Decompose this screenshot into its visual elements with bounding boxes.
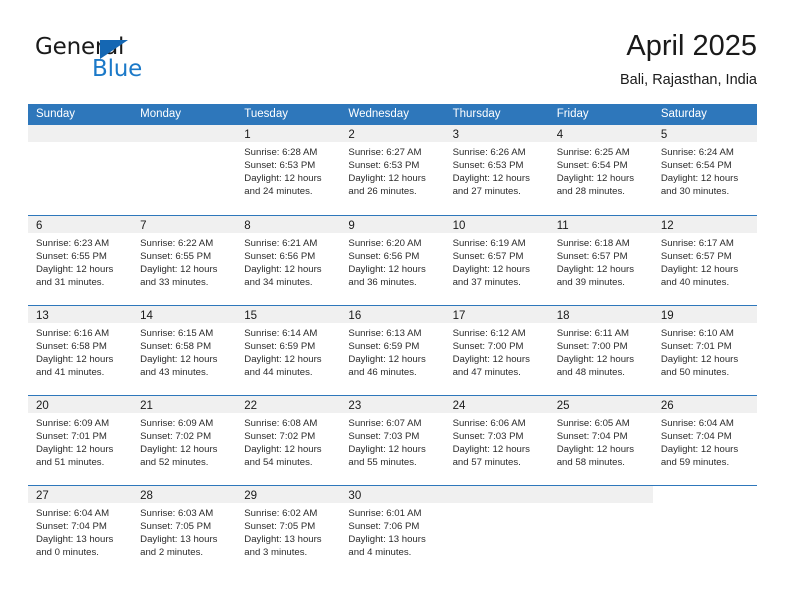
- day-info-line: Daylight: 12 hours: [348, 172, 440, 185]
- day-info-line: and 33 minutes.: [140, 276, 232, 289]
- calendar-day-cell[interactable]: 23Sunrise: 6:07 AMSunset: 7:03 PMDayligh…: [340, 396, 444, 485]
- day-info-line: Sunrise: 6:12 AM: [453, 327, 545, 340]
- day-sun-info: Sunrise: 6:01 AMSunset: 7:06 PMDaylight:…: [340, 503, 444, 559]
- day-info-line: Sunset: 7:05 PM: [140, 520, 232, 533]
- day-info-line: and 31 minutes.: [36, 276, 128, 289]
- day-number: 8: [244, 220, 250, 232]
- calendar-day-cell-empty: [28, 125, 132, 215]
- day-info-line: and 59 minutes.: [661, 456, 753, 469]
- day-info-line: Sunset: 6:59 PM: [348, 340, 440, 353]
- day-info-line: and 27 minutes.: [453, 185, 545, 198]
- day-number: 5: [661, 129, 667, 141]
- day-info-line: Sunrise: 6:15 AM: [140, 327, 232, 340]
- day-sun-info: Sunrise: 6:27 AMSunset: 6:53 PMDaylight:…: [340, 142, 444, 198]
- day-number-band: 22: [236, 396, 340, 413]
- calendar-day-cell[interactable]: 4Sunrise: 6:25 AMSunset: 6:54 PMDaylight…: [549, 125, 653, 215]
- calendar-day-cell[interactable]: 24Sunrise: 6:06 AMSunset: 7:03 PMDayligh…: [445, 396, 549, 485]
- day-info-line: Sunset: 7:00 PM: [557, 340, 649, 353]
- day-info-line: Sunrise: 6:20 AM: [348, 237, 440, 250]
- day-info-line: Sunset: 6:58 PM: [140, 340, 232, 353]
- day-info-line: Daylight: 12 hours: [557, 172, 649, 185]
- day-info-line: and 34 minutes.: [244, 276, 336, 289]
- day-sun-info: Sunrise: 6:16 AMSunset: 6:58 PMDaylight:…: [28, 323, 132, 379]
- day-info-line: Sunset: 7:04 PM: [661, 430, 753, 443]
- day-number-band: 24: [445, 396, 549, 413]
- day-info-line: Daylight: 12 hours: [244, 172, 336, 185]
- calendar-week-row: 20Sunrise: 6:09 AMSunset: 7:01 PMDayligh…: [28, 395, 757, 485]
- day-number-band: 23: [340, 396, 444, 413]
- day-sun-info: Sunrise: 6:13 AMSunset: 6:59 PMDaylight:…: [340, 323, 444, 379]
- calendar-day-cell[interactable]: 29Sunrise: 6:02 AMSunset: 7:05 PMDayligh…: [236, 486, 340, 575]
- weekday-header-sunday: Sunday: [28, 104, 132, 125]
- weekday-header-friday: Friday: [549, 104, 653, 125]
- calendar-day-cell[interactable]: 2Sunrise: 6:27 AMSunset: 6:53 PMDaylight…: [340, 125, 444, 215]
- day-info-line: and 36 minutes.: [348, 276, 440, 289]
- calendar-day-cell[interactable]: 18Sunrise: 6:11 AMSunset: 7:00 PMDayligh…: [549, 306, 653, 395]
- calendar-day-cell[interactable]: 27Sunrise: 6:04 AMSunset: 7:04 PMDayligh…: [28, 486, 132, 575]
- day-info-line: Daylight: 12 hours: [244, 353, 336, 366]
- calendar-day-cell[interactable]: 11Sunrise: 6:18 AMSunset: 6:57 PMDayligh…: [549, 216, 653, 305]
- day-number-band: 30: [340, 486, 444, 503]
- day-info-line: and 47 minutes.: [453, 366, 545, 379]
- day-info-line: Sunset: 6:57 PM: [557, 250, 649, 263]
- day-sun-info: Sunrise: 6:23 AMSunset: 6:55 PMDaylight:…: [28, 233, 132, 289]
- day-number-band: 17: [445, 306, 549, 323]
- day-sun-info: Sunrise: 6:03 AMSunset: 7:05 PMDaylight:…: [132, 503, 236, 559]
- day-number: 1: [244, 129, 250, 141]
- day-number: 20: [36, 400, 49, 412]
- day-info-line: Sunset: 6:57 PM: [661, 250, 753, 263]
- day-number: 16: [348, 310, 361, 322]
- day-info-line: Sunset: 7:02 PM: [140, 430, 232, 443]
- day-info-line: Sunset: 7:03 PM: [348, 430, 440, 443]
- day-info-line: Sunset: 7:06 PM: [348, 520, 440, 533]
- day-info-line: Daylight: 12 hours: [557, 353, 649, 366]
- calendar-day-cell[interactable]: 13Sunrise: 6:16 AMSunset: 6:58 PMDayligh…: [28, 306, 132, 395]
- day-number: 12: [661, 220, 674, 232]
- day-info-line: Sunrise: 6:26 AM: [453, 146, 545, 159]
- day-info-line: Sunrise: 6:24 AM: [661, 146, 753, 159]
- day-number-band: 27: [28, 486, 132, 503]
- day-info-line: Daylight: 12 hours: [453, 443, 545, 456]
- day-info-line: Sunrise: 6:10 AM: [661, 327, 753, 340]
- day-info-line: and 41 minutes.: [36, 366, 128, 379]
- day-number-band: 12: [653, 216, 757, 233]
- day-info-line: Daylight: 12 hours: [661, 263, 753, 276]
- day-sun-info: Sunrise: 6:10 AMSunset: 7:01 PMDaylight:…: [653, 323, 757, 379]
- day-info-line: Sunrise: 6:02 AM: [244, 507, 336, 520]
- day-info-line: Sunrise: 6:06 AM: [453, 417, 545, 430]
- day-info-line: Sunrise: 6:04 AM: [661, 417, 753, 430]
- day-number: 14: [140, 310, 153, 322]
- day-info-line: Daylight: 12 hours: [453, 353, 545, 366]
- day-number-band: 3: [445, 125, 549, 142]
- day-info-line: and 58 minutes.: [557, 456, 649, 469]
- day-info-line: Daylight: 12 hours: [453, 263, 545, 276]
- day-info-line: and 44 minutes.: [244, 366, 336, 379]
- calendar-week-row: 6Sunrise: 6:23 AMSunset: 6:55 PMDaylight…: [28, 215, 757, 305]
- day-info-line: Sunset: 6:55 PM: [140, 250, 232, 263]
- day-number: 24: [453, 400, 466, 412]
- day-sun-info: Sunrise: 6:02 AMSunset: 7:05 PMDaylight:…: [236, 503, 340, 559]
- day-number: 22: [244, 400, 257, 412]
- day-sun-info: Sunrise: 6:25 AMSunset: 6:54 PMDaylight:…: [549, 142, 653, 198]
- day-info-line: Sunrise: 6:01 AM: [348, 507, 440, 520]
- day-number: 2: [348, 129, 354, 141]
- day-info-line: Daylight: 12 hours: [348, 263, 440, 276]
- calendar-day-cell[interactable]: 7Sunrise: 6:22 AMSunset: 6:55 PMDaylight…: [132, 216, 236, 305]
- day-number-band: 2: [340, 125, 444, 142]
- day-number-band: 11: [549, 216, 653, 233]
- day-sun-info: Sunrise: 6:04 AMSunset: 7:04 PMDaylight:…: [653, 413, 757, 469]
- calendar-day-cell[interactable]: 1Sunrise: 6:28 AMSunset: 6:53 PMDaylight…: [236, 125, 340, 215]
- day-sun-info: Sunrise: 6:15 AMSunset: 6:58 PMDaylight:…: [132, 323, 236, 379]
- calendar-day-cell-empty: [445, 486, 549, 575]
- day-info-line: Sunrise: 6:09 AM: [140, 417, 232, 430]
- calendar-week-row: 27Sunrise: 6:04 AMSunset: 7:04 PMDayligh…: [28, 485, 757, 575]
- day-sun-info: Sunrise: 6:05 AMSunset: 7:04 PMDaylight:…: [549, 413, 653, 469]
- calendar-day-cell[interactable]: 10Sunrise: 6:19 AMSunset: 6:57 PMDayligh…: [445, 216, 549, 305]
- day-number-band: 18: [549, 306, 653, 323]
- day-info-line: Daylight: 12 hours: [661, 353, 753, 366]
- day-info-line: Sunset: 7:05 PM: [244, 520, 336, 533]
- day-info-line: Sunset: 7:01 PM: [661, 340, 753, 353]
- day-info-line: Daylight: 12 hours: [348, 353, 440, 366]
- day-info-line: and 50 minutes.: [661, 366, 753, 379]
- calendar-weeks: 1Sunrise: 6:28 AMSunset: 6:53 PMDaylight…: [28, 125, 757, 575]
- day-number: 11: [557, 220, 569, 232]
- day-sun-info: Sunrise: 6:06 AMSunset: 7:03 PMDaylight:…: [445, 413, 549, 469]
- day-sun-info: Sunrise: 6:04 AMSunset: 7:04 PMDaylight:…: [28, 503, 132, 559]
- page-subtitle-location: Bali, Rajasthan, India: [620, 72, 757, 89]
- page-header: General Blue April 2025 Bali, Rajasthan,…: [0, 0, 792, 100]
- day-number-band: 19: [653, 306, 757, 323]
- title-block: April 2025 Bali, Rajasthan, India: [620, 30, 757, 89]
- day-info-line: Sunset: 6:54 PM: [557, 159, 649, 172]
- general-blue-logo[interactable]: General Blue: [35, 36, 175, 84]
- day-sun-info: Sunrise: 6:21 AMSunset: 6:56 PMDaylight:…: [236, 233, 340, 289]
- day-number-band: [549, 486, 653, 503]
- day-info-line: Sunset: 7:00 PM: [453, 340, 545, 353]
- day-number: 6: [36, 220, 42, 232]
- day-sun-info: Sunrise: 6:12 AMSunset: 7:00 PMDaylight:…: [445, 323, 549, 379]
- day-info-line: and 3 minutes.: [244, 546, 336, 559]
- day-number: 23: [348, 400, 361, 412]
- day-number: 30: [348, 490, 361, 502]
- day-info-line: Sunrise: 6:07 AM: [348, 417, 440, 430]
- day-number-band: 15: [236, 306, 340, 323]
- weekday-header-saturday: Saturday: [653, 104, 757, 125]
- calendar-day-cell[interactable]: 22Sunrise: 6:08 AMSunset: 7:02 PMDayligh…: [236, 396, 340, 485]
- logo-text-blue: Blue: [92, 58, 142, 81]
- day-info-line: Daylight: 12 hours: [453, 172, 545, 185]
- day-sun-info: Sunrise: 6:09 AMSunset: 7:02 PMDaylight:…: [132, 413, 236, 469]
- day-number: 21: [140, 400, 153, 412]
- day-info-line: Daylight: 13 hours: [244, 533, 336, 546]
- day-info-line: and 57 minutes.: [453, 456, 545, 469]
- day-info-line: Daylight: 12 hours: [36, 353, 128, 366]
- day-info-line: and 30 minutes.: [661, 185, 753, 198]
- day-number: 29: [244, 490, 257, 502]
- day-info-line: Sunrise: 6:16 AM: [36, 327, 128, 340]
- day-number-band: 20: [28, 396, 132, 413]
- day-sun-info: Sunrise: 6:28 AMSunset: 6:53 PMDaylight:…: [236, 142, 340, 198]
- day-info-line: and 37 minutes.: [453, 276, 545, 289]
- day-info-line: Daylight: 12 hours: [661, 172, 753, 185]
- day-info-line: and 43 minutes.: [140, 366, 232, 379]
- day-info-line: Sunrise: 6:13 AM: [348, 327, 440, 340]
- weekday-header-row: SundayMondayTuesdayWednesdayThursdayFrid…: [28, 104, 757, 125]
- calendar-day-cell[interactable]: 19Sunrise: 6:10 AMSunset: 7:01 PMDayligh…: [653, 306, 757, 395]
- day-number: 19: [661, 310, 674, 322]
- day-info-line: Sunrise: 6:17 AM: [661, 237, 753, 250]
- day-info-line: and 55 minutes.: [348, 456, 440, 469]
- day-sun-info: Sunrise: 6:08 AMSunset: 7:02 PMDaylight:…: [236, 413, 340, 469]
- day-number-band: 5: [653, 125, 757, 142]
- weekday-header-wednesday: Wednesday: [340, 104, 444, 125]
- day-info-line: Sunrise: 6:23 AM: [36, 237, 128, 250]
- calendar-day-cell[interactable]: 5Sunrise: 6:24 AMSunset: 6:54 PMDaylight…: [653, 125, 757, 215]
- day-info-line: Daylight: 12 hours: [140, 443, 232, 456]
- day-number-band: 8: [236, 216, 340, 233]
- day-info-line: and 2 minutes.: [140, 546, 232, 559]
- weekday-header-monday: Monday: [132, 104, 236, 125]
- day-info-line: Daylight: 12 hours: [36, 443, 128, 456]
- day-info-line: Sunrise: 6:25 AM: [557, 146, 649, 159]
- day-number: 4: [557, 129, 563, 141]
- day-number-band: 7: [132, 216, 236, 233]
- day-info-line: Sunset: 6:53 PM: [244, 159, 336, 172]
- calendar-day-cell-empty: [132, 125, 236, 215]
- day-info-line: Sunrise: 6:14 AM: [244, 327, 336, 340]
- day-info-line: Sunrise: 6:09 AM: [36, 417, 128, 430]
- day-number-band: 1: [236, 125, 340, 142]
- day-info-line: Daylight: 13 hours: [36, 533, 128, 546]
- day-info-line: Sunrise: 6:18 AM: [557, 237, 649, 250]
- day-info-line: Daylight: 12 hours: [244, 263, 336, 276]
- day-number-band: 10: [445, 216, 549, 233]
- day-info-line: Daylight: 12 hours: [661, 443, 753, 456]
- day-sun-info: Sunrise: 6:18 AMSunset: 6:57 PMDaylight:…: [549, 233, 653, 289]
- day-info-line: Sunset: 6:59 PM: [244, 340, 336, 353]
- day-info-line: Sunset: 6:56 PM: [348, 250, 440, 263]
- day-number-band: [132, 125, 236, 142]
- day-number-band: 9: [340, 216, 444, 233]
- day-info-line: Sunrise: 6:22 AM: [140, 237, 232, 250]
- day-info-line: and 28 minutes.: [557, 185, 649, 198]
- day-number-band: 21: [132, 396, 236, 413]
- day-info-line: Sunrise: 6:27 AM: [348, 146, 440, 159]
- day-sun-info: Sunrise: 6:09 AMSunset: 7:01 PMDaylight:…: [28, 413, 132, 469]
- day-number-band: 25: [549, 396, 653, 413]
- day-info-line: Daylight: 12 hours: [557, 263, 649, 276]
- day-info-line: Daylight: 12 hours: [244, 443, 336, 456]
- day-number-band: 29: [236, 486, 340, 503]
- day-info-line: and 39 minutes.: [557, 276, 649, 289]
- day-number: 9: [348, 220, 354, 232]
- day-info-line: Daylight: 12 hours: [36, 263, 128, 276]
- day-info-line: and 24 minutes.: [244, 185, 336, 198]
- day-number: 17: [453, 310, 466, 322]
- day-info-line: and 40 minutes.: [661, 276, 753, 289]
- day-info-line: and 48 minutes.: [557, 366, 649, 379]
- day-sun-info: Sunrise: 6:22 AMSunset: 6:55 PMDaylight:…: [132, 233, 236, 289]
- day-sun-info: Sunrise: 6:20 AMSunset: 6:56 PMDaylight:…: [340, 233, 444, 289]
- day-number: 28: [140, 490, 153, 502]
- calendar-day-cell[interactable]: 25Sunrise: 6:05 AMSunset: 7:04 PMDayligh…: [549, 396, 653, 485]
- day-info-line: Sunset: 7:04 PM: [36, 520, 128, 533]
- day-info-line: Daylight: 12 hours: [348, 443, 440, 456]
- day-info-line: Daylight: 12 hours: [140, 263, 232, 276]
- calendar-day-cell[interactable]: 6Sunrise: 6:23 AMSunset: 6:55 PMDaylight…: [28, 216, 132, 305]
- day-info-line: Sunset: 6:54 PM: [661, 159, 753, 172]
- day-info-line: Daylight: 12 hours: [140, 353, 232, 366]
- day-info-line: Sunrise: 6:04 AM: [36, 507, 128, 520]
- calendar-day-cell[interactable]: 9Sunrise: 6:20 AMSunset: 6:56 PMDaylight…: [340, 216, 444, 305]
- day-info-line: Sunset: 7:02 PM: [244, 430, 336, 443]
- day-number-band: 14: [132, 306, 236, 323]
- day-info-line: Sunset: 6:56 PM: [244, 250, 336, 263]
- day-number-band: 16: [340, 306, 444, 323]
- day-number-band: 4: [549, 125, 653, 142]
- day-info-line: Sunrise: 6:21 AM: [244, 237, 336, 250]
- day-sun-info: Sunrise: 6:07 AMSunset: 7:03 PMDaylight:…: [340, 413, 444, 469]
- calendar-day-cell[interactable]: 26Sunrise: 6:04 AMSunset: 7:04 PMDayligh…: [653, 396, 757, 485]
- day-number: 25: [557, 400, 570, 412]
- day-info-line: Daylight: 13 hours: [348, 533, 440, 546]
- day-number-band: [28, 125, 132, 142]
- day-sun-info: Sunrise: 6:19 AMSunset: 6:57 PMDaylight:…: [445, 233, 549, 289]
- day-info-line: and 26 minutes.: [348, 185, 440, 198]
- day-sun-info: Sunrise: 6:14 AMSunset: 6:59 PMDaylight:…: [236, 323, 340, 379]
- day-sun-info: Sunrise: 6:24 AMSunset: 6:54 PMDaylight:…: [653, 142, 757, 198]
- day-info-line: Sunset: 6:58 PM: [36, 340, 128, 353]
- day-info-line: and 51 minutes.: [36, 456, 128, 469]
- calendar-day-cell[interactable]: 8Sunrise: 6:21 AMSunset: 6:56 PMDaylight…: [236, 216, 340, 305]
- calendar-day-cell[interactable]: 17Sunrise: 6:12 AMSunset: 7:00 PMDayligh…: [445, 306, 549, 395]
- calendar-week-row: 1Sunrise: 6:28 AMSunset: 6:53 PMDaylight…: [28, 125, 757, 215]
- day-info-line: Sunset: 7:04 PM: [557, 430, 649, 443]
- calendar-day-cell[interactable]: 20Sunrise: 6:09 AMSunset: 7:01 PMDayligh…: [28, 396, 132, 485]
- day-info-line: Sunrise: 6:08 AM: [244, 417, 336, 430]
- day-number-band: 26: [653, 396, 757, 413]
- day-number-band: [445, 486, 549, 503]
- day-number: 18: [557, 310, 570, 322]
- day-number: 13: [36, 310, 49, 322]
- calendar-week-row: 13Sunrise: 6:16 AMSunset: 6:58 PMDayligh…: [28, 305, 757, 395]
- page-title: April 2025: [620, 30, 757, 63]
- day-info-line: Sunrise: 6:19 AM: [453, 237, 545, 250]
- day-sun-info: Sunrise: 6:17 AMSunset: 6:57 PMDaylight:…: [653, 233, 757, 289]
- day-number: 7: [140, 220, 146, 232]
- day-info-line: Daylight: 13 hours: [140, 533, 232, 546]
- weekday-header-thursday: Thursday: [445, 104, 549, 125]
- calendar-day-cell-empty: [549, 486, 653, 575]
- day-number: 27: [36, 490, 49, 502]
- day-info-line: Sunset: 6:53 PM: [453, 159, 545, 172]
- calendar-day-cell[interactable]: 16Sunrise: 6:13 AMSunset: 6:59 PMDayligh…: [340, 306, 444, 395]
- day-number-band: 13: [28, 306, 132, 323]
- calendar-page: General Blue April 2025 Bali, Rajasthan,…: [0, 0, 792, 612]
- day-info-line: Sunrise: 6:28 AM: [244, 146, 336, 159]
- day-sun-info: Sunrise: 6:11 AMSunset: 7:00 PMDaylight:…: [549, 323, 653, 379]
- day-number: 10: [453, 220, 466, 232]
- day-info-line: and 0 minutes.: [36, 546, 128, 559]
- day-info-line: Sunrise: 6:11 AM: [557, 327, 649, 340]
- calendar-day-cell[interactable]: 21Sunrise: 6:09 AMSunset: 7:02 PMDayligh…: [132, 396, 236, 485]
- calendar-day-cell[interactable]: 15Sunrise: 6:14 AMSunset: 6:59 PMDayligh…: [236, 306, 340, 395]
- day-number: 26: [661, 400, 674, 412]
- day-info-line: Sunrise: 6:05 AM: [557, 417, 649, 430]
- calendar-day-cell-empty: [653, 486, 757, 575]
- day-info-line: Daylight: 12 hours: [557, 443, 649, 456]
- day-info-line: and 4 minutes.: [348, 546, 440, 559]
- day-info-line: Sunset: 7:03 PM: [453, 430, 545, 443]
- calendar-day-cell[interactable]: 14Sunrise: 6:15 AMSunset: 6:58 PMDayligh…: [132, 306, 236, 395]
- day-number-band: 28: [132, 486, 236, 503]
- weekday-header-tuesday: Tuesday: [236, 104, 340, 125]
- day-number: 3: [453, 129, 459, 141]
- calendar-day-cell[interactable]: 30Sunrise: 6:01 AMSunset: 7:06 PMDayligh…: [340, 486, 444, 575]
- calendar-day-cell[interactable]: 28Sunrise: 6:03 AMSunset: 7:05 PMDayligh…: [132, 486, 236, 575]
- day-info-line: and 54 minutes.: [244, 456, 336, 469]
- calendar-grid: SundayMondayTuesdayWednesdayThursdayFrid…: [28, 104, 757, 575]
- calendar-day-cell[interactable]: 3Sunrise: 6:26 AMSunset: 6:53 PMDaylight…: [445, 125, 549, 215]
- day-info-line: Sunset: 7:01 PM: [36, 430, 128, 443]
- day-info-line: Sunset: 6:55 PM: [36, 250, 128, 263]
- day-sun-info: Sunrise: 6:26 AMSunset: 6:53 PMDaylight:…: [445, 142, 549, 198]
- day-number: 15: [244, 310, 257, 322]
- day-number-band: 6: [28, 216, 132, 233]
- day-info-line: Sunset: 6:57 PM: [453, 250, 545, 263]
- day-info-line: and 46 minutes.: [348, 366, 440, 379]
- calendar-day-cell[interactable]: 12Sunrise: 6:17 AMSunset: 6:57 PMDayligh…: [653, 216, 757, 305]
- day-info-line: and 52 minutes.: [140, 456, 232, 469]
- day-info-line: Sunrise: 6:03 AM: [140, 507, 232, 520]
- day-info-line: Sunset: 6:53 PM: [348, 159, 440, 172]
